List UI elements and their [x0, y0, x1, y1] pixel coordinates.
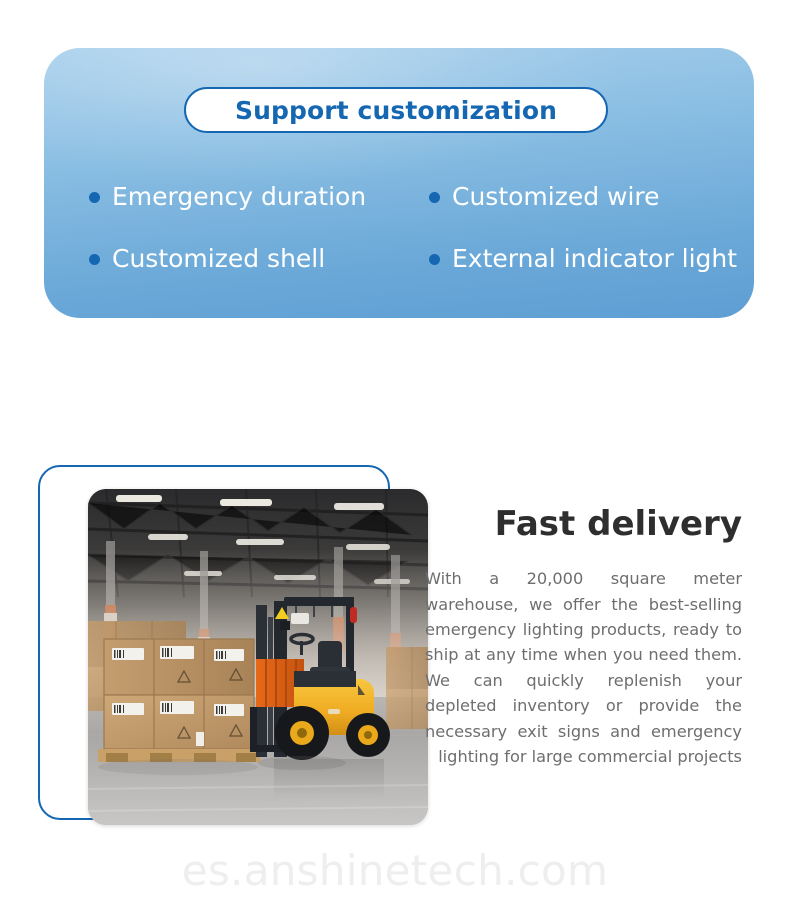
- site-watermark: es.anshinetech.com: [0, 845, 790, 898]
- support-customization-title: Support customization: [235, 98, 557, 123]
- fast-delivery-copy: Fast delivery With a 20,000 square meter…: [425, 505, 742, 769]
- feature-item-customized-wire: Customized wire: [389, 166, 754, 228]
- support-customization-badge: Support customization: [184, 87, 608, 133]
- feature-label: Emergency duration: [112, 183, 366, 211]
- feature-item-customized-shell: Customized shell: [44, 228, 389, 290]
- feature-item-external-indicator-light: External indicator light: [389, 228, 754, 290]
- warehouse-photo: [88, 489, 428, 825]
- bullet-icon: [429, 192, 440, 203]
- bullet-icon: [429, 254, 440, 265]
- customization-feature-row: Emergency duration Customized wire: [44, 166, 754, 228]
- feature-label: Customized wire: [452, 183, 660, 211]
- warehouse-illustration-icon: [88, 489, 428, 825]
- bullet-icon: [89, 254, 100, 265]
- customization-feature-grid: Emergency duration Customized wire Custo…: [44, 166, 754, 290]
- fast-delivery-description: With a 20,000 square meter warehouse, we…: [425, 566, 742, 769]
- feature-label: External indicator light: [452, 245, 737, 273]
- bullet-icon: [89, 192, 100, 203]
- fast-delivery-title: Fast delivery: [425, 505, 742, 544]
- fast-delivery-section: Fast delivery With a 20,000 square meter…: [0, 460, 790, 835]
- support-customization-card: Support customization Emergency duration…: [44, 48, 754, 318]
- feature-item-emergency-duration: Emergency duration: [44, 166, 389, 228]
- feature-label: Customized shell: [112, 245, 325, 273]
- customization-feature-row: Customized shell External indicator ligh…: [44, 228, 754, 290]
